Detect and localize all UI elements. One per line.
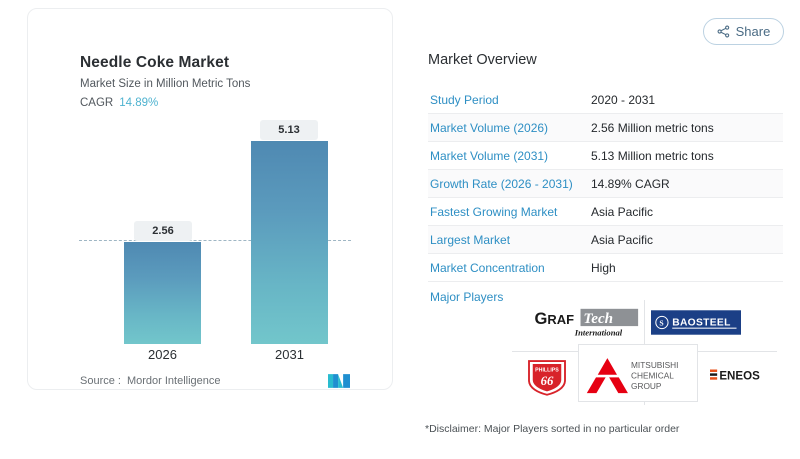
svg-text:ENEOS: ENEOS <box>719 370 760 382</box>
logo-mitsubishi-chemical-group[interactable]: MITSUBISHI CHEMICAL GROUP <box>578 344 698 402</box>
logo-baosteel[interactable]: S BAOSTEEL <box>650 305 742 339</box>
table-row: Market Concentration High <box>428 254 783 282</box>
major-players-logos: G RAF Tech International S BAOSTEEL <box>512 300 777 405</box>
svg-text:GROUP: GROUP <box>631 381 662 391</box>
row-value: Asia Pacific <box>591 233 783 247</box>
market-overview-panel: Market Overview Study Period 2020 - 2031… <box>412 8 800 390</box>
svg-text:66: 66 <box>541 374 554 388</box>
row-key: Market Concentration <box>428 261 591 275</box>
market-overview-title: Market Overview <box>428 52 537 68</box>
mitsubishi-chemical-group-logo: MITSUBISHI CHEMICAL GROUP <box>582 352 694 394</box>
source-row: Source : Mordor Intelligence <box>80 374 350 388</box>
row-value: Asia Pacific <box>591 205 783 219</box>
phillips-66-logo: PHILLIPS 66 <box>526 355 568 397</box>
market-snapshot-card: Share Needle Coke Market Market Size in … <box>0 0 800 459</box>
table-row: Largest Market Asia Pacific <box>428 226 783 254</box>
row-key: Study Period <box>428 93 591 107</box>
table-row: Market Volume (2031) 5.13 Million metric… <box>428 142 783 170</box>
bar-value-label-2026: 2.56 <box>134 221 192 241</box>
x-axis-tick-2026: 2026 <box>124 347 201 362</box>
table-row: Study Period 2020 - 2031 <box>428 86 783 114</box>
row-value: 5.13 Million metric tons <box>591 149 783 163</box>
mordor-intelligence-logo <box>328 374 350 388</box>
row-value: High <box>591 261 783 275</box>
row-value: 2.56 Million metric tons <box>591 121 783 135</box>
row-value: 14.89% CAGR <box>591 177 783 191</box>
row-key: Growth Rate (2026 - 2031) <box>428 177 591 191</box>
table-row: Fastest Growing Market Asia Pacific <box>428 198 783 226</box>
table-row: Growth Rate (2026 - 2031) 14.89% CAGR <box>428 170 783 198</box>
svg-text:RAF: RAF <box>547 311 574 326</box>
svg-text:PHILLIPS: PHILLIPS <box>535 368 559 374</box>
eneos-logo: ENEOS <box>710 364 776 386</box>
table-row: Market Volume (2026) 2.56 Million metric… <box>428 114 783 142</box>
baosteel-logo: S BAOSTEEL <box>651 310 741 335</box>
row-value: 2020 - 2031 <box>591 93 783 107</box>
row-key: Market Volume (2031) <box>428 149 591 163</box>
market-overview-table: Study Period 2020 - 2031 Market Volume (… <box>428 86 783 312</box>
svg-text:S: S <box>659 318 663 327</box>
svg-text:CHEMICAL: CHEMICAL <box>631 370 674 380</box>
bar-2031[interactable] <box>251 141 328 344</box>
chart-card: Needle Coke Market Market Size in Millio… <box>27 8 393 390</box>
svg-text:G: G <box>534 308 547 327</box>
svg-text:BAOSTEEL: BAOSTEEL <box>672 317 730 328</box>
row-key: Market Volume (2026) <box>428 121 591 135</box>
logo-eneos[interactable]: ENEOS <box>708 362 778 388</box>
bar-value-label-2031: 5.13 <box>260 120 318 140</box>
logo-graftech[interactable]: G RAF Tech International <box>532 303 642 341</box>
graftech-logo: G RAF Tech International <box>533 305 641 340</box>
svg-text:Tech: Tech <box>583 311 613 327</box>
row-key: Largest Market <box>428 233 591 247</box>
bar-2026[interactable] <box>124 242 201 344</box>
x-axis-tick-2031: 2031 <box>251 347 328 362</box>
logo-phillips-66[interactable]: PHILLIPS 66 <box>524 354 570 398</box>
source-name: Mordor Intelligence <box>127 375 221 387</box>
svg-text:International: International <box>574 327 623 337</box>
source-label: Source : <box>80 375 121 387</box>
bar-chart-plot: 2.56 5.13 2026 2031 <box>28 9 394 391</box>
disclaimer-text: *Disclaimer: Major Players sorted in no … <box>425 423 679 435</box>
svg-text:MITSUBISHI: MITSUBISHI <box>631 360 678 370</box>
row-key: Fastest Growing Market <box>428 205 591 219</box>
